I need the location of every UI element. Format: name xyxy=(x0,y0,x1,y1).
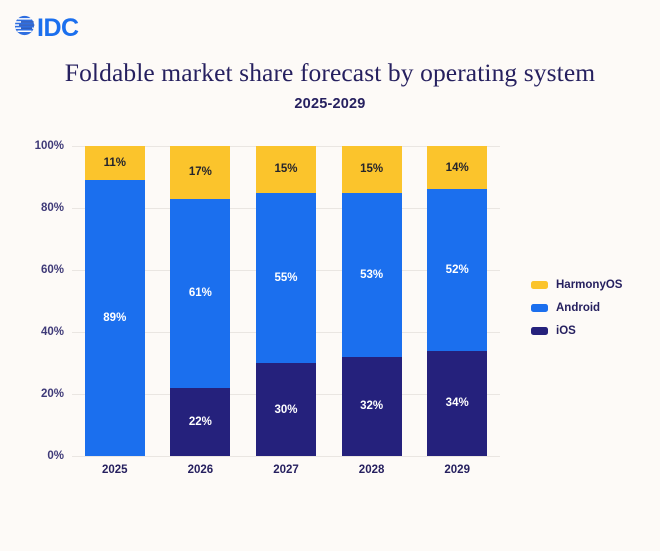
x-axis-tick-label: 2025 xyxy=(85,464,145,476)
bar-segment-ios[interactable]: 34% xyxy=(427,351,487,456)
x-axis-tick-label: 2029 xyxy=(427,464,487,476)
bar-segment-android[interactable]: 53% xyxy=(342,193,402,357)
bar-group[interactable]: 22%61%17% xyxy=(170,146,230,456)
legend-swatch-harmonyos xyxy=(531,281,548,289)
y-axis-tick-label: 0% xyxy=(0,450,64,462)
chart-legend: HarmonyOSAndroidiOS xyxy=(531,273,651,342)
bar-segment-android[interactable]: 52% xyxy=(427,189,487,350)
bar-segment-ios[interactable]: 32% xyxy=(342,357,402,456)
x-axis-tick-label: 2028 xyxy=(342,464,402,476)
bar-group[interactable]: 89%11% xyxy=(85,146,145,456)
y-axis-tick-label: 60% xyxy=(0,264,64,276)
y-axis-tick-label: 20% xyxy=(0,388,64,400)
legend-item-harmonyos[interactable]: HarmonyOS xyxy=(531,273,651,296)
y-axis-tick-label: 100% xyxy=(0,140,64,152)
gridline xyxy=(72,456,500,457)
x-axis-tick-label: 2027 xyxy=(256,464,316,476)
legend-swatch-ios xyxy=(531,327,548,335)
bar-segment-android[interactable]: 89% xyxy=(85,180,145,456)
legend-item-android[interactable]: Android xyxy=(531,296,651,319)
y-axis-tick-label: 80% xyxy=(0,202,64,214)
bar-segment-harmonyos[interactable]: 14% xyxy=(427,146,487,189)
legend-label: Android xyxy=(556,302,600,314)
bar-group[interactable]: 32%53%15% xyxy=(342,146,402,456)
bar-group[interactable]: 34%52%14% xyxy=(427,146,487,456)
bar-segment-harmonyos[interactable]: 15% xyxy=(342,146,402,193)
bar-segment-ios[interactable]: 22% xyxy=(170,388,230,456)
legend-label: iOS xyxy=(556,325,576,337)
plot-inner: 89%11%22%61%17%30%55%15%32%53%15%34%52%1… xyxy=(72,146,500,456)
bar-segment-harmonyos[interactable]: 11% xyxy=(85,146,145,180)
legend-item-ios[interactable]: iOS xyxy=(531,319,651,342)
bar-segment-android[interactable]: 55% xyxy=(256,193,316,364)
legend-swatch-android xyxy=(531,304,548,312)
bar-segment-ios[interactable]: 30% xyxy=(256,363,316,456)
bar-group[interactable]: 30%55%15% xyxy=(256,146,316,456)
legend-label: HarmonyOS xyxy=(556,279,622,291)
y-axis-tick-label: 40% xyxy=(0,326,64,338)
bar-segment-harmonyos[interactable]: 17% xyxy=(170,146,230,199)
x-axis-tick-label: 2026 xyxy=(170,464,230,476)
bar-segment-harmonyos[interactable]: 15% xyxy=(256,146,316,193)
bar-segment-android[interactable]: 61% xyxy=(170,199,230,388)
